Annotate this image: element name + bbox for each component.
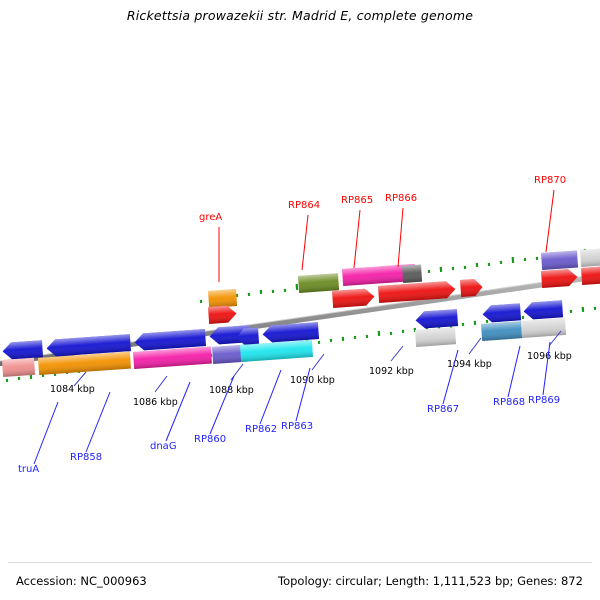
tick-mark — [296, 284, 299, 290]
gene-feature-arrow[interactable] — [523, 300, 563, 320]
tick-mark — [512, 257, 515, 263]
gene-shading — [541, 268, 578, 287]
gene-label-reverse[interactable]: RP860 — [194, 434, 226, 445]
scale-leader-line — [312, 354, 324, 370]
gene-label-forward[interactable]: RP864 — [288, 200, 320, 211]
tick-mark — [378, 331, 381, 336]
tick-mark — [200, 300, 202, 303]
tick-mark — [330, 339, 332, 342]
gene-feature-block[interactable] — [208, 289, 237, 308]
genome-map-viewer: Rickettsia prowazekii str. Madrid E, com… — [0, 0, 600, 600]
tick-mark — [536, 257, 538, 260]
gene-shading — [415, 309, 458, 329]
gene-label-forward[interactable]: RP865 — [341, 195, 373, 206]
gene-shading — [580, 247, 600, 266]
tick-mark — [248, 293, 250, 296]
status-bar: Accession: NC_000963 Topology: circular;… — [0, 562, 600, 600]
gene-label-reverse[interactable]: RP863 — [281, 421, 313, 432]
gene-feature-arrow[interactable] — [332, 288, 375, 308]
gene-shading — [521, 318, 566, 338]
scale-leader-line — [469, 338, 481, 354]
gene-label-reverse[interactable]: RP867 — [427, 404, 459, 415]
tick-mark — [488, 263, 490, 266]
gene-label-forward[interactable]: greA — [199, 212, 222, 223]
tick-mark — [402, 330, 404, 333]
gene-feature-arrow[interactable] — [208, 305, 237, 324]
tick-mark — [18, 377, 20, 380]
gene-shading — [541, 250, 578, 269]
gene-label-forward-leader — [302, 215, 308, 270]
tick-mark — [594, 307, 596, 310]
tick-mark — [440, 267, 443, 272]
gene-shading — [481, 321, 522, 341]
gene-label-reverse[interactable]: RP862 — [245, 424, 277, 435]
tick-mark — [522, 316, 524, 319]
gene-feature-arrow[interactable] — [541, 268, 578, 287]
tick-mark — [272, 290, 274, 293]
tick-mark — [570, 310, 572, 313]
tick-mark — [582, 307, 585, 312]
tick-mark — [260, 290, 262, 294]
gene-label-forward-leader — [546, 190, 554, 252]
gene-shading — [402, 265, 422, 283]
scale-tick-label: 1086 kbp — [133, 397, 178, 408]
gene-feature-arrow[interactable] — [581, 265, 600, 285]
accession-text: Accession: NC_000963 — [16, 574, 147, 588]
gene-label-forward[interactable]: RP866 — [385, 193, 417, 204]
tick-mark — [474, 321, 476, 325]
gene-label-forward-leader — [398, 208, 403, 267]
gene-label-forward-leader — [354, 210, 360, 268]
gene-shading — [2, 358, 35, 377]
gene-label-reverse-leader — [260, 370, 281, 424]
scale-tick-label: 1088 kbp — [209, 385, 254, 396]
scale-tick-label: 1090 kbp — [290, 375, 335, 386]
tick-mark — [30, 375, 32, 379]
gene-feature-arrow[interactable] — [415, 309, 458, 329]
topology-text: Topology: circular; Length: 1,111,523 bp… — [278, 574, 583, 588]
gene-label-reverse-leader — [166, 382, 190, 441]
tick-mark — [390, 332, 392, 335]
gene-label-reverse-leader — [543, 342, 550, 395]
gene-shading — [415, 327, 456, 347]
gene-label-reverse[interactable]: RP858 — [70, 452, 102, 463]
tick-mark — [366, 335, 368, 338]
gene-feature-block[interactable] — [2, 358, 35, 377]
gene-shading — [581, 265, 600, 285]
gene-label-reverse[interactable]: RP868 — [493, 397, 525, 408]
gene-label-reverse-leader — [86, 392, 110, 452]
gene-feature-arrow[interactable] — [2, 340, 43, 360]
gene-feature-block[interactable] — [402, 265, 422, 283]
tick-mark — [464, 266, 466, 269]
scale-leader-line — [155, 376, 167, 392]
gene-feature-block[interactable] — [298, 273, 339, 293]
scale-tick-label: 1096 kbp — [527, 351, 572, 362]
gene-label-reverse-leader — [34, 402, 58, 464]
gene-feature-block[interactable] — [580, 247, 600, 266]
tick-mark — [524, 258, 526, 261]
tick-mark — [476, 263, 478, 267]
tick-mark — [428, 270, 430, 273]
gene-shading — [523, 300, 563, 320]
scale-tick-label: 1084 kbp — [50, 384, 95, 395]
gene-feature-block[interactable] — [541, 250, 578, 269]
scale-tick-label: 1092 kbp — [369, 366, 414, 377]
genome-track-canvas: 1084 kbp1086 kbp1088 kbp1090 kbp1092 kbp… — [0, 20, 600, 560]
tick-mark — [500, 261, 502, 264]
gene-feature-block[interactable] — [521, 318, 566, 338]
tick-mark — [452, 267, 454, 270]
gene-shading — [208, 305, 237, 324]
tick-mark — [354, 336, 356, 339]
gene-shading — [298, 273, 339, 293]
tick-mark — [318, 341, 320, 344]
gene-label-reverse[interactable]: dnaG — [150, 441, 177, 452]
tick-mark — [462, 323, 464, 326]
scale-leader-line — [391, 346, 403, 361]
gene-shading — [332, 288, 375, 308]
gene-feature-block[interactable] — [415, 327, 456, 347]
status-bar-divider — [8, 562, 592, 563]
tick-mark — [342, 337, 344, 341]
tick-mark — [6, 379, 8, 382]
gene-feature-block[interactable] — [481, 321, 522, 341]
gene-label-reverse[interactable]: truA — [18, 464, 39, 475]
gene-label-reverse-leader — [508, 346, 520, 397]
gene-shading — [208, 289, 237, 308]
tick-mark — [486, 320, 488, 323]
gene-label-reverse[interactable]: RP869 — [528, 395, 560, 406]
tick-mark — [284, 289, 286, 292]
gene-shading — [2, 340, 43, 360]
gene-label-forward[interactable]: RP870 — [534, 175, 566, 186]
forward-gene-labels[interactable]: greARP864RP865RP866RP870 — [199, 175, 566, 282]
